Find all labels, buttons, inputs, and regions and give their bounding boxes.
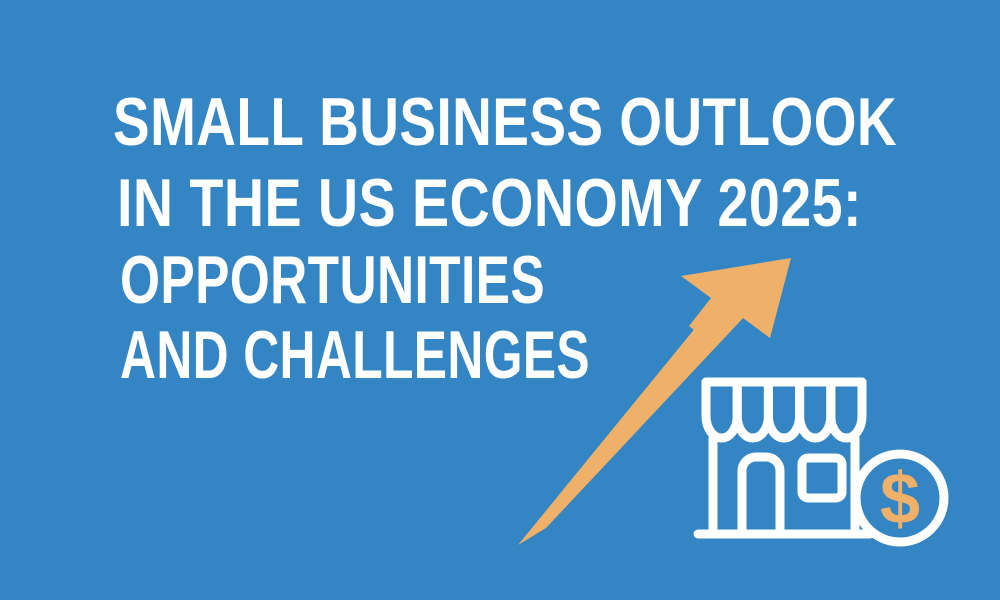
promo-banner: $ SMALL BUSINESS OUTLOOK IN THE US ECONO… <box>0 0 1000 600</box>
headline-line-3: OPPORTUNITIES <box>120 242 545 318</box>
headline-line-1: SMALL BUSINESS OUTLOOK <box>113 84 897 160</box>
storefront-shop-icon: $ <box>690 368 960 563</box>
headline-line-2: IN THE US ECONOMY 2025: <box>117 165 862 241</box>
dollar-sign-glyph: $ <box>880 459 920 539</box>
